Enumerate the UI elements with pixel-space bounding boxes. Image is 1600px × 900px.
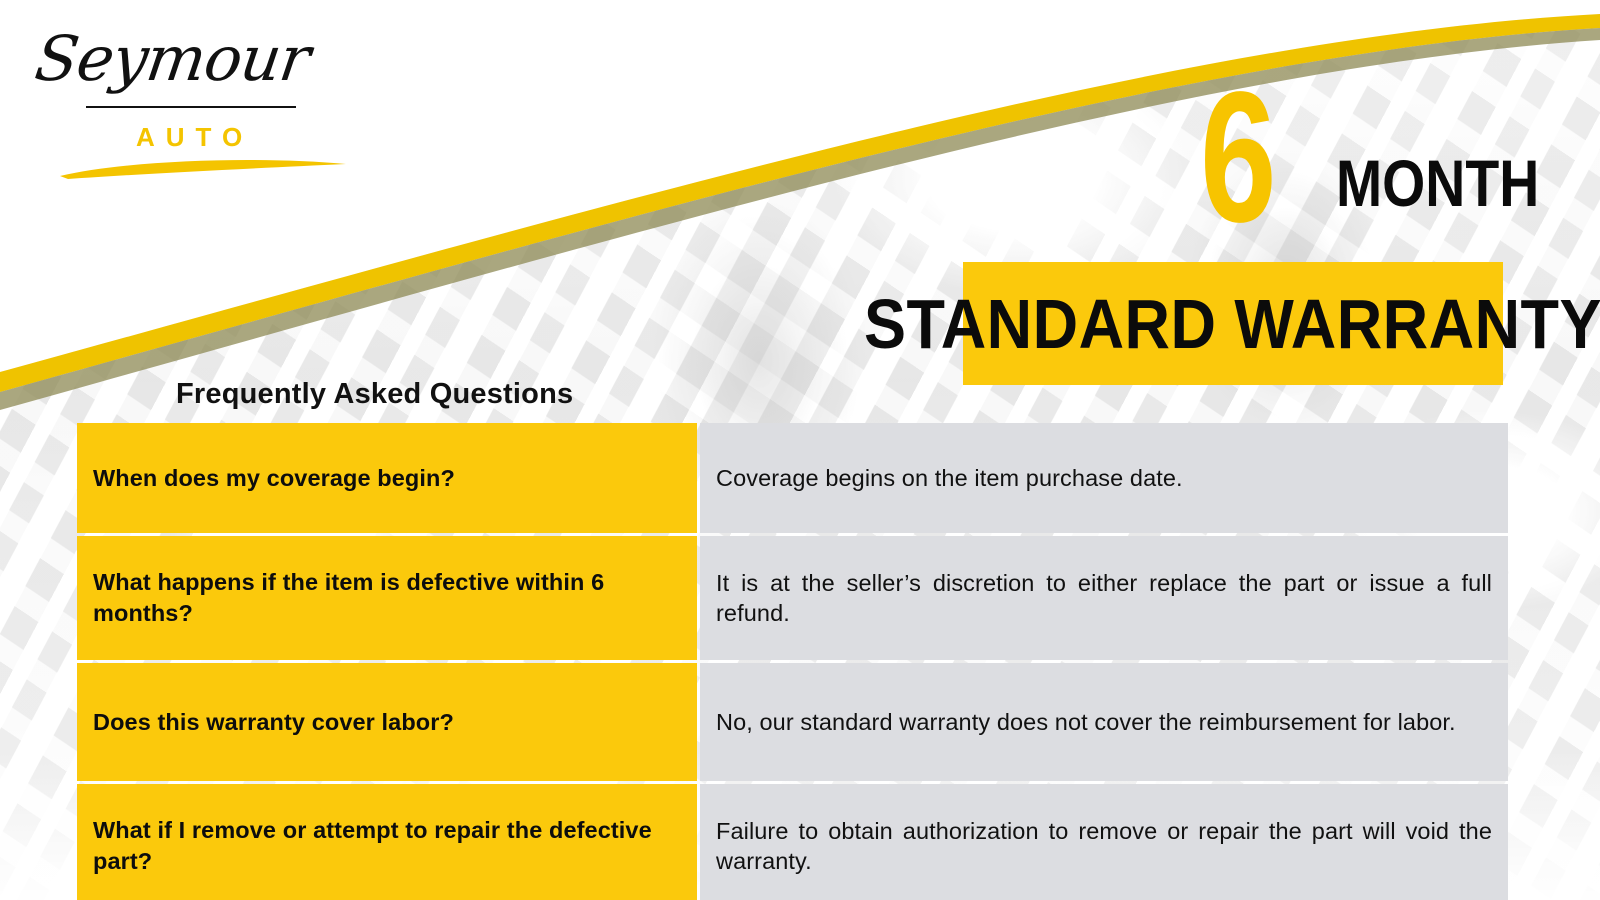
logo-auto-text: AUTO — [136, 122, 253, 153]
standard-warranty-title: STANDARD WARRANTY — [864, 289, 1600, 359]
faq-heading: Frequently Asked Questions — [176, 378, 573, 411]
faq-answer: Failure to obtain authorization to remov… — [700, 784, 1508, 900]
faq-table: When does my coverage begin? Coverage be… — [74, 420, 1511, 900]
faq-question: Does this warranty cover labor? — [77, 663, 697, 781]
duration-unit: MONTH — [1336, 150, 1539, 216]
faq-question: What if I remove or attempt to repair th… — [77, 784, 697, 900]
duration-number: 6 — [1200, 78, 1274, 238]
table-row: Does this warranty cover labor? No, our … — [77, 663, 1508, 781]
faq-answer: Coverage begins on the item purchase dat… — [700, 423, 1508, 533]
faq-question: What happens if the item is defective wi… — [77, 536, 697, 660]
duration-headline: 6 MONTH — [1200, 78, 1520, 248]
standard-warranty-banner: STANDARD WARRANTY — [963, 262, 1503, 385]
logo-script-text: Seymour — [31, 22, 314, 95]
table-row: When does my coverage begin? Coverage be… — [77, 423, 1508, 533]
logo-yellow-swipe-icon — [58, 154, 348, 180]
faq-answer: It is at the seller’s discretion to eith… — [700, 536, 1508, 660]
seymour-auto-logo: Seymour AUTO — [28, 20, 338, 180]
faq-answer: No, our standard warranty does not cover… — [700, 663, 1508, 781]
faq-question: When does my coverage begin? — [77, 423, 697, 533]
table-row: What happens if the item is defective wi… — [77, 536, 1508, 660]
warranty-slide: Seymour AUTO 6 MONTH STANDARD WARRANTY F… — [0, 0, 1600, 900]
logo-underline — [86, 106, 296, 108]
table-row: What if I remove or attempt to repair th… — [77, 784, 1508, 900]
